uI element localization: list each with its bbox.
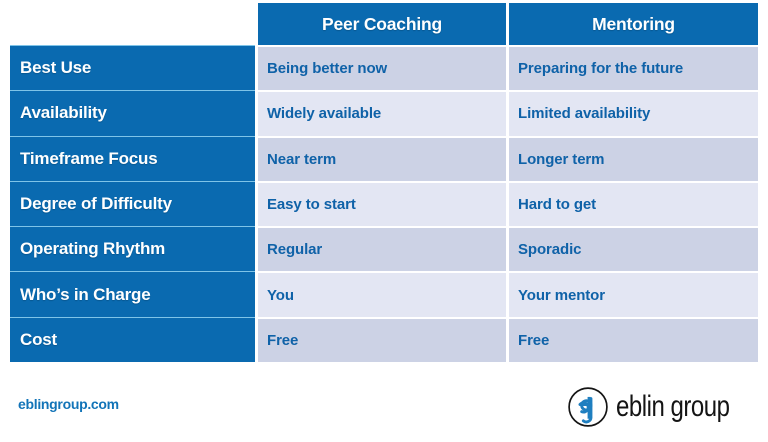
comparison-table: Peer Coaching Mentoring Best Use Being b… bbox=[10, 3, 758, 367]
cell-mentoring: Preparing for the future bbox=[509, 45, 758, 90]
table-row: Degree of Difficulty Easy to start Hard … bbox=[10, 181, 758, 226]
table-row: Cost Free Free bbox=[10, 317, 758, 362]
site-url-label[interactable]: eblingroup.com bbox=[18, 396, 119, 412]
cell-mentoring: Free bbox=[509, 317, 758, 362]
cell-mentoring: Your mentor bbox=[509, 271, 758, 316]
row-label: Cost bbox=[10, 317, 255, 362]
cell-peer-coaching: Regular bbox=[258, 226, 506, 271]
row-label: Operating Rhythm bbox=[10, 226, 255, 271]
cell-peer-coaching: You bbox=[258, 271, 506, 316]
row-label: Timeframe Focus bbox=[10, 136, 255, 181]
table-header-row: Peer Coaching Mentoring bbox=[10, 3, 758, 45]
table-row: Availability Widely available Limited av… bbox=[10, 90, 758, 135]
cell-peer-coaching: Easy to start bbox=[258, 181, 506, 226]
row-label: Degree of Difficulty bbox=[10, 181, 255, 226]
row-label: Who’s in Charge bbox=[10, 271, 255, 316]
footer: eblingroup.com eblin group bbox=[0, 378, 768, 442]
eblin-group-logo-icon bbox=[567, 386, 609, 428]
header-cell-peer-coaching: Peer Coaching bbox=[258, 3, 506, 45]
table-row: Operating Rhythm Regular Sporadic bbox=[10, 226, 758, 271]
cell-mentoring: Hard to get bbox=[509, 181, 758, 226]
row-label: Availability bbox=[10, 90, 255, 135]
cell-peer-coaching: Being better now bbox=[258, 45, 506, 90]
cell-peer-coaching: Widely available bbox=[258, 90, 506, 135]
cell-peer-coaching: Near term bbox=[258, 136, 506, 181]
cell-mentoring: Limited availability bbox=[509, 90, 758, 135]
row-label: Best Use bbox=[10, 45, 255, 90]
table-row: Who’s in Charge You Your mentor bbox=[10, 271, 758, 316]
brand-wordmark: eblin group bbox=[616, 390, 729, 424]
cell-peer-coaching: Free bbox=[258, 317, 506, 362]
cell-mentoring: Longer term bbox=[509, 136, 758, 181]
brand-logo: eblin group bbox=[567, 386, 758, 428]
table-row: Timeframe Focus Near term Longer term bbox=[10, 136, 758, 181]
header-cell-mentoring: Mentoring bbox=[509, 3, 758, 45]
cell-mentoring: Sporadic bbox=[509, 226, 758, 271]
header-cell-blank bbox=[10, 3, 255, 45]
table-row: Best Use Being better now Preparing for … bbox=[10, 45, 758, 90]
